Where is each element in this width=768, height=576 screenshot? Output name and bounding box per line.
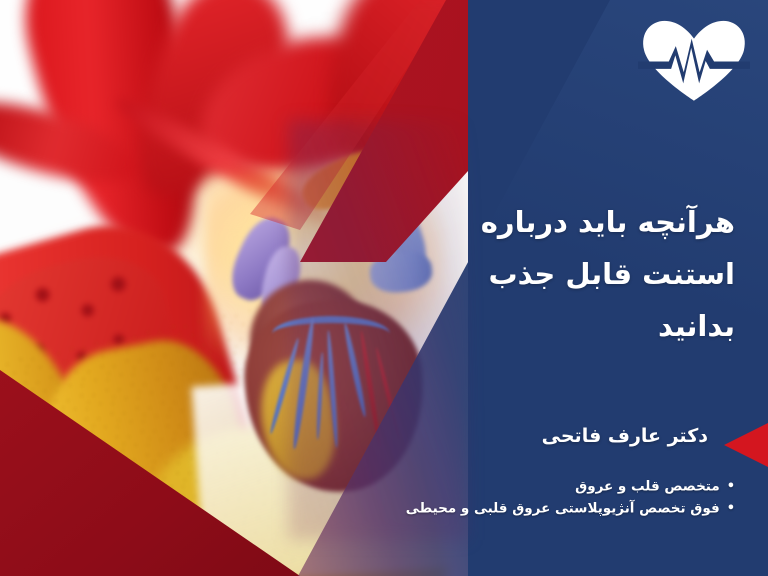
medical-promo-poster: هرآنچه باید درباره استنت قابل جذب بدانید…: [0, 0, 768, 576]
red-arrow-accent: [724, 423, 768, 467]
credential-text: فوق تخصص آنژیوپلاستی عروق قلبی و محیطی: [406, 500, 720, 516]
headline: هرآنچه باید درباره استنت قابل جذب بدانید: [395, 196, 735, 352]
headline-line-1: هرآنچه باید درباره: [395, 196, 735, 248]
bullet-dot-icon: •: [727, 476, 735, 497]
doctor-credentials-list: •متخصص قلب و عروق •فوق تخصص آنژیوپلاستی …: [315, 476, 735, 519]
credential-text: متخصص قلب و عروق: [575, 479, 720, 495]
bullet-dot-icon: •: [727, 498, 735, 519]
credential-item: •متخصص قلب و عروق: [315, 476, 735, 498]
headline-line-3: بدانید: [395, 300, 735, 352]
credential-item: •فوق تخصص آنژیوپلاستی عروق قلبی و محیطی: [315, 498, 735, 520]
heart-pulse-logo-icon[interactable]: [638, 18, 750, 104]
headline-line-2: استنت قابل جذب: [395, 248, 735, 300]
doctor-name: دکتر عارف فاتحی: [542, 425, 708, 447]
